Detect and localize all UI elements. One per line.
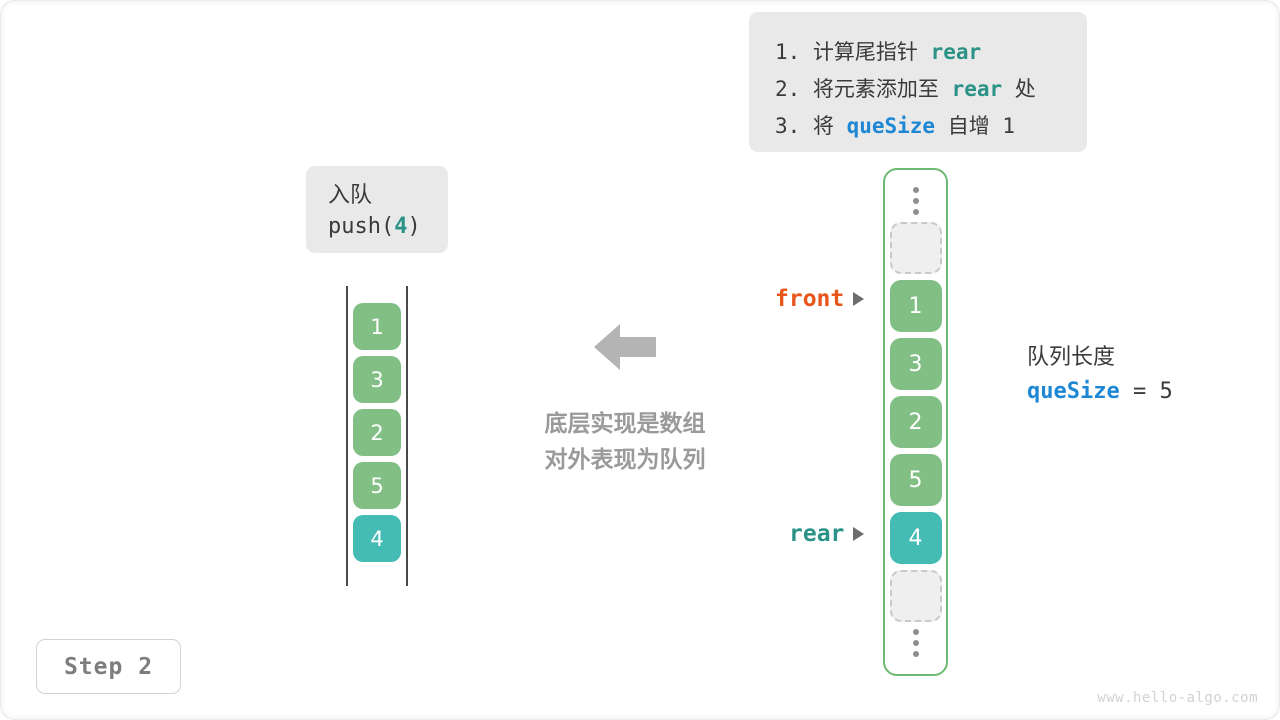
rear-pointer-text: rear bbox=[789, 521, 844, 547]
push-operation-title: 入队 bbox=[328, 180, 448, 211]
step-badge-label: Step 2 bbox=[64, 654, 153, 680]
quesize-annotation: 队列长度 queSize = 5 bbox=[1027, 341, 1257, 410]
rear-pointer-arrow-icon bbox=[853, 527, 864, 541]
queue-rail-left bbox=[346, 286, 348, 586]
array-cell: 5 bbox=[890, 454, 942, 506]
front-pointer-text: front bbox=[775, 286, 844, 312]
queue-cell-new: 4 bbox=[353, 515, 401, 562]
array-cell-new: 4 bbox=[890, 512, 942, 564]
push-operation-code: push(4) bbox=[328, 211, 448, 242]
implementation-caption-line-1: 底层实现是数组 bbox=[500, 406, 750, 442]
push-code-prefix: push( bbox=[328, 214, 394, 239]
step-badge: Step 2 bbox=[36, 639, 181, 694]
front-pointer-label: front bbox=[775, 286, 864, 312]
push-operation-panel: 入队 push(4) bbox=[306, 166, 448, 253]
logical-queue-column: 1 3 2 5 4 bbox=[346, 286, 408, 586]
implementation-caption: 底层实现是数组 对外表现为队列 bbox=[500, 406, 750, 478]
instruction-line-1: 1. 计算尾指针 rear bbox=[775, 34, 1061, 71]
instruction-line-3-keyword: queSize bbox=[847, 114, 936, 138]
implementation-caption-line-2: 对外表现为队列 bbox=[500, 442, 750, 478]
front-pointer-arrow-icon bbox=[853, 292, 864, 306]
instruction-line-2-prefix: 2. 将元素添加至 bbox=[775, 77, 952, 101]
queue-cell: 5 bbox=[353, 462, 401, 509]
push-code-suffix: ) bbox=[407, 214, 420, 239]
vertical-dots-bottom-icon bbox=[913, 622, 919, 664]
push-code-value: 4 bbox=[394, 214, 407, 239]
instruction-line-1-keyword: rear bbox=[931, 40, 982, 64]
rear-pointer-label: rear bbox=[789, 521, 864, 547]
instruction-line-2-suffix: 处 bbox=[1002, 77, 1036, 101]
queue-cell: 1 bbox=[353, 303, 401, 350]
queue-cell-stack: 1 3 2 5 4 bbox=[353, 303, 401, 562]
watermark: www.hello-algo.com bbox=[1097, 690, 1258, 706]
quesize-caption: 队列长度 bbox=[1027, 341, 1257, 374]
instruction-line-3: 3. 将 queSize 自增 1 bbox=[775, 108, 1061, 145]
array-cell-empty bbox=[890, 570, 942, 622]
queue-cell: 2 bbox=[353, 409, 401, 456]
instruction-line-2: 2. 将元素添加至 rear 处 bbox=[775, 71, 1061, 108]
queue-rail-right bbox=[406, 286, 408, 586]
instruction-panel: 1. 计算尾指针 rear 2. 将元素添加至 rear 处 3. 将 queS… bbox=[749, 12, 1087, 152]
array-cell-stack: 1 3 2 5 4 bbox=[890, 222, 942, 622]
left-arrow-icon bbox=[594, 322, 656, 372]
vertical-dots-top-icon bbox=[913, 180, 919, 222]
queue-cell: 3 bbox=[353, 356, 401, 403]
instruction-line-3-prefix: 3. 将 bbox=[775, 114, 847, 138]
array-cell: 1 bbox=[890, 280, 942, 332]
quesize-value: = 5 bbox=[1120, 379, 1173, 404]
array-cell: 2 bbox=[890, 396, 942, 448]
array-cell: 3 bbox=[890, 338, 942, 390]
quesize-expression: queSize = 5 bbox=[1027, 374, 1257, 410]
physical-array-container: 1 3 2 5 4 bbox=[883, 168, 948, 676]
instruction-line-2-keyword: rear bbox=[952, 77, 1003, 101]
quesize-keyword: queSize bbox=[1027, 379, 1120, 404]
diagram-canvas: 1. 计算尾指针 rear 2. 将元素添加至 rear 处 3. 将 queS… bbox=[0, 0, 1280, 720]
array-cell-empty bbox=[890, 222, 942, 274]
instruction-line-1-prefix: 1. 计算尾指针 bbox=[775, 40, 931, 64]
instruction-line-3-suffix: 自增 1 bbox=[935, 114, 1015, 138]
